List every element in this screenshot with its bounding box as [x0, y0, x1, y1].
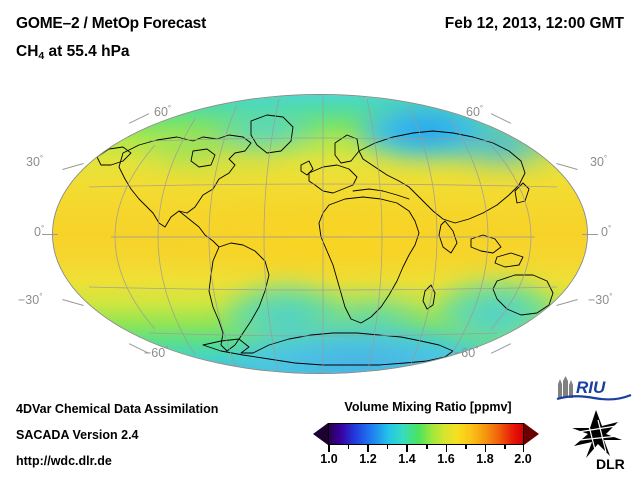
colorbar-tick-minor	[348, 445, 350, 449]
lat-label-right-30-text: 30	[590, 155, 604, 169]
lat-label-left-m30-text: −30	[18, 293, 39, 307]
degree-symbol: °	[604, 154, 607, 163]
lat-label-left-m60: −60°	[144, 345, 168, 360]
colorbar-tick	[485, 445, 487, 452]
colorbar-tick-label: 2.0	[514, 452, 531, 466]
riu-logo: RIU	[556, 376, 632, 402]
forecast-datetime: Feb 12, 2013, 12:00 GMT	[445, 15, 624, 33]
lat-label-left-60-text: 60	[154, 105, 168, 119]
colorbar-tick-label: 1.0	[320, 452, 337, 466]
lat-label-right-0-text: 0	[601, 225, 608, 239]
colorbar-tick-minor	[387, 445, 389, 449]
colorbar-tick-label: 1.8	[476, 452, 493, 466]
colorbar-tick-label: 1.6	[437, 452, 454, 466]
colorbar-tick	[328, 445, 330, 452]
colorbar-extend-min-arrow-icon	[313, 423, 328, 445]
lat-label-right-30: 30°	[590, 154, 607, 169]
species-suffix: at 55.4 hPa	[44, 43, 129, 60]
degree-symbol: °	[39, 292, 42, 301]
degree-symbol: °	[475, 345, 478, 354]
degree-symbol: °	[480, 104, 483, 113]
colorbar-tick-label: 1.4	[398, 452, 415, 466]
colorbar-gradient	[328, 423, 524, 445]
colorbar-tick-label: 1.2	[359, 452, 376, 466]
colorbar-ticks	[328, 445, 524, 452]
lat-tick-left-0	[42, 234, 58, 235]
colorbar-extend-max-arrow-icon	[524, 423, 539, 445]
colorbar	[312, 421, 540, 447]
species-level-label: CH4 at 55.4 hPa	[16, 43, 130, 61]
riu-logo-text: RIU	[576, 378, 606, 397]
lat-label-right-m60-text: −60	[454, 346, 475, 360]
footer-line-assimilation: 4DVar Chemical Data Assimilation	[16, 402, 218, 416]
footer-line-url[interactable]: http://wdc.dlr.de	[16, 454, 112, 468]
lat-label-left-m30: −30°	[18, 292, 42, 307]
degree-symbol: °	[608, 224, 611, 233]
degree-symbol: °	[165, 345, 168, 354]
lat-label-left-30: 30°	[26, 154, 43, 169]
lat-label-left-60: 60°	[154, 104, 171, 119]
lat-label-left-30-text: 30	[26, 155, 40, 169]
world-map: 60° 60° 30° 30° 0° 0° −30° −30° −60° −60…	[50, 92, 590, 376]
lat-label-left-m60-text: −60	[144, 346, 165, 360]
lat-label-right-m60: −60°	[454, 345, 478, 360]
colorbar-tick-minor	[465, 445, 467, 449]
colorbar-tick	[446, 445, 448, 452]
lat-label-right-m30-text: −30	[588, 293, 609, 307]
colorbar-tick-labels: 1.0 1.2 1.4 1.6 1.8 2.0	[312, 452, 540, 470]
dlr-logo: DLR	[566, 410, 632, 472]
species-prefix: CH	[16, 43, 38, 60]
footer-line-version: SACADA Version 2.4	[16, 428, 139, 442]
colorbar-title: Volume Mixing Ratio [ppmv]	[322, 400, 534, 414]
degree-symbol: °	[168, 104, 171, 113]
lat-label-right-0: 0°	[601, 224, 611, 239]
lat-tick-right-0	[582, 234, 598, 235]
colorbar-tick	[523, 445, 525, 452]
colorbar-tick-minor	[426, 445, 428, 449]
mollweide-globe	[52, 94, 588, 374]
lat-label-left-0-text: 0	[34, 225, 41, 239]
species-subscript: 4	[38, 50, 44, 62]
colorbar-tick	[367, 445, 369, 452]
lat-label-right-m30: −30°	[588, 292, 612, 307]
lat-label-right-60: 60°	[466, 104, 483, 119]
colorbar-tick	[406, 445, 408, 452]
dlr-emblem-icon	[572, 410, 622, 458]
degree-symbol: °	[40, 154, 43, 163]
lat-label-left-0: 0°	[34, 224, 44, 239]
lat-label-right-60-text: 60	[466, 105, 480, 119]
figure-canvas: GOME–2 / MetOp Forecast CH4 at 55.4 hPa …	[0, 0, 640, 480]
page-title: GOME–2 / MetOp Forecast	[16, 15, 206, 33]
riu-towers-icon	[558, 376, 573, 398]
graticule	[53, 95, 587, 373]
degree-symbol: °	[41, 224, 44, 233]
colorbar-tick-minor	[504, 445, 506, 449]
degree-symbol: °	[609, 292, 612, 301]
dlr-logo-text: DLR	[596, 456, 625, 472]
